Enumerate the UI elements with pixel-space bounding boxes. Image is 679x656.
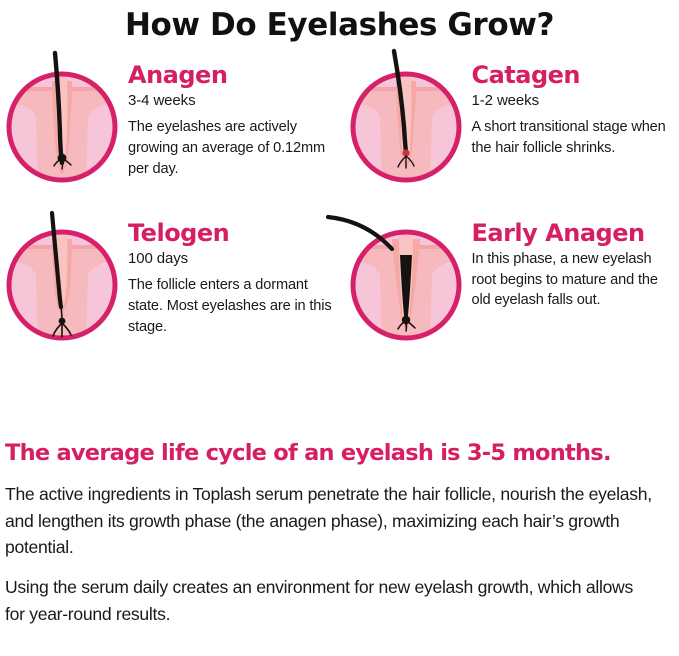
hair-follicle-telogen-icon — [0, 215, 128, 347]
stage-name: Telogen — [128, 221, 336, 246]
stage-duration: 3-4 weeks — [128, 91, 336, 111]
stage-text: Catagen 1-2 weeks A short transitional s… — [472, 57, 679, 159]
stage-text: Telogen 100 days The follicle enters a d… — [128, 215, 340, 338]
stage-duration: 100 days — [128, 249, 336, 269]
stage-description: In this phase, a new eyelash root begins… — [472, 249, 676, 311]
stage-description: The follicle enters a dormant state. Mos… — [128, 275, 336, 337]
stage-name: Early Anagen — [472, 221, 676, 246]
stage-duration: 1-2 weeks — [472, 91, 676, 111]
stage-name: Anagen — [128, 63, 336, 88]
stage-text: Anagen 3-4 weeks The eyelashes are activ… — [128, 57, 340, 180]
summary-paragraph: The active ingredients in Toplash serum … — [5, 481, 655, 561]
hair-follicle-anagen-icon — [0, 57, 128, 189]
stage-description: The eyelashes are actively growing an av… — [128, 117, 336, 179]
summary-section: The average life cycle of an eyelash is … — [5, 440, 673, 628]
stage-description: A short transitional stage when the hair… — [472, 117, 676, 158]
stage-card-anagen: Anagen 3-4 weeks The eyelashes are activ… — [0, 57, 340, 215]
page-title: How Do Eyelashes Grow? — [0, 0, 679, 45]
hair-follicle-catagen-icon — [344, 57, 472, 189]
summary-headline: The average life cycle of an eyelash is … — [5, 440, 673, 467]
stage-card-early-anagen: Early Anagen In this phase, a new eyelas… — [340, 215, 679, 367]
stages-grid: Anagen 3-4 weeks The eyelashes are activ… — [0, 57, 679, 367]
stage-text: Early Anagen In this phase, a new eyelas… — [472, 215, 679, 311]
stage-row: Anagen 3-4 weeks The eyelashes are activ… — [0, 57, 679, 215]
hair-follicle-early-anagen-icon — [344, 215, 472, 347]
summary-paragraph: Using the serum daily creates an environ… — [5, 574, 655, 627]
stage-card-catagen: Catagen 1-2 weeks A short transitional s… — [340, 57, 679, 215]
stage-row: Telogen 100 days The follicle enters a d… — [0, 215, 679, 367]
stage-name: Catagen — [472, 63, 676, 88]
stage-card-telogen: Telogen 100 days The follicle enters a d… — [0, 215, 340, 367]
